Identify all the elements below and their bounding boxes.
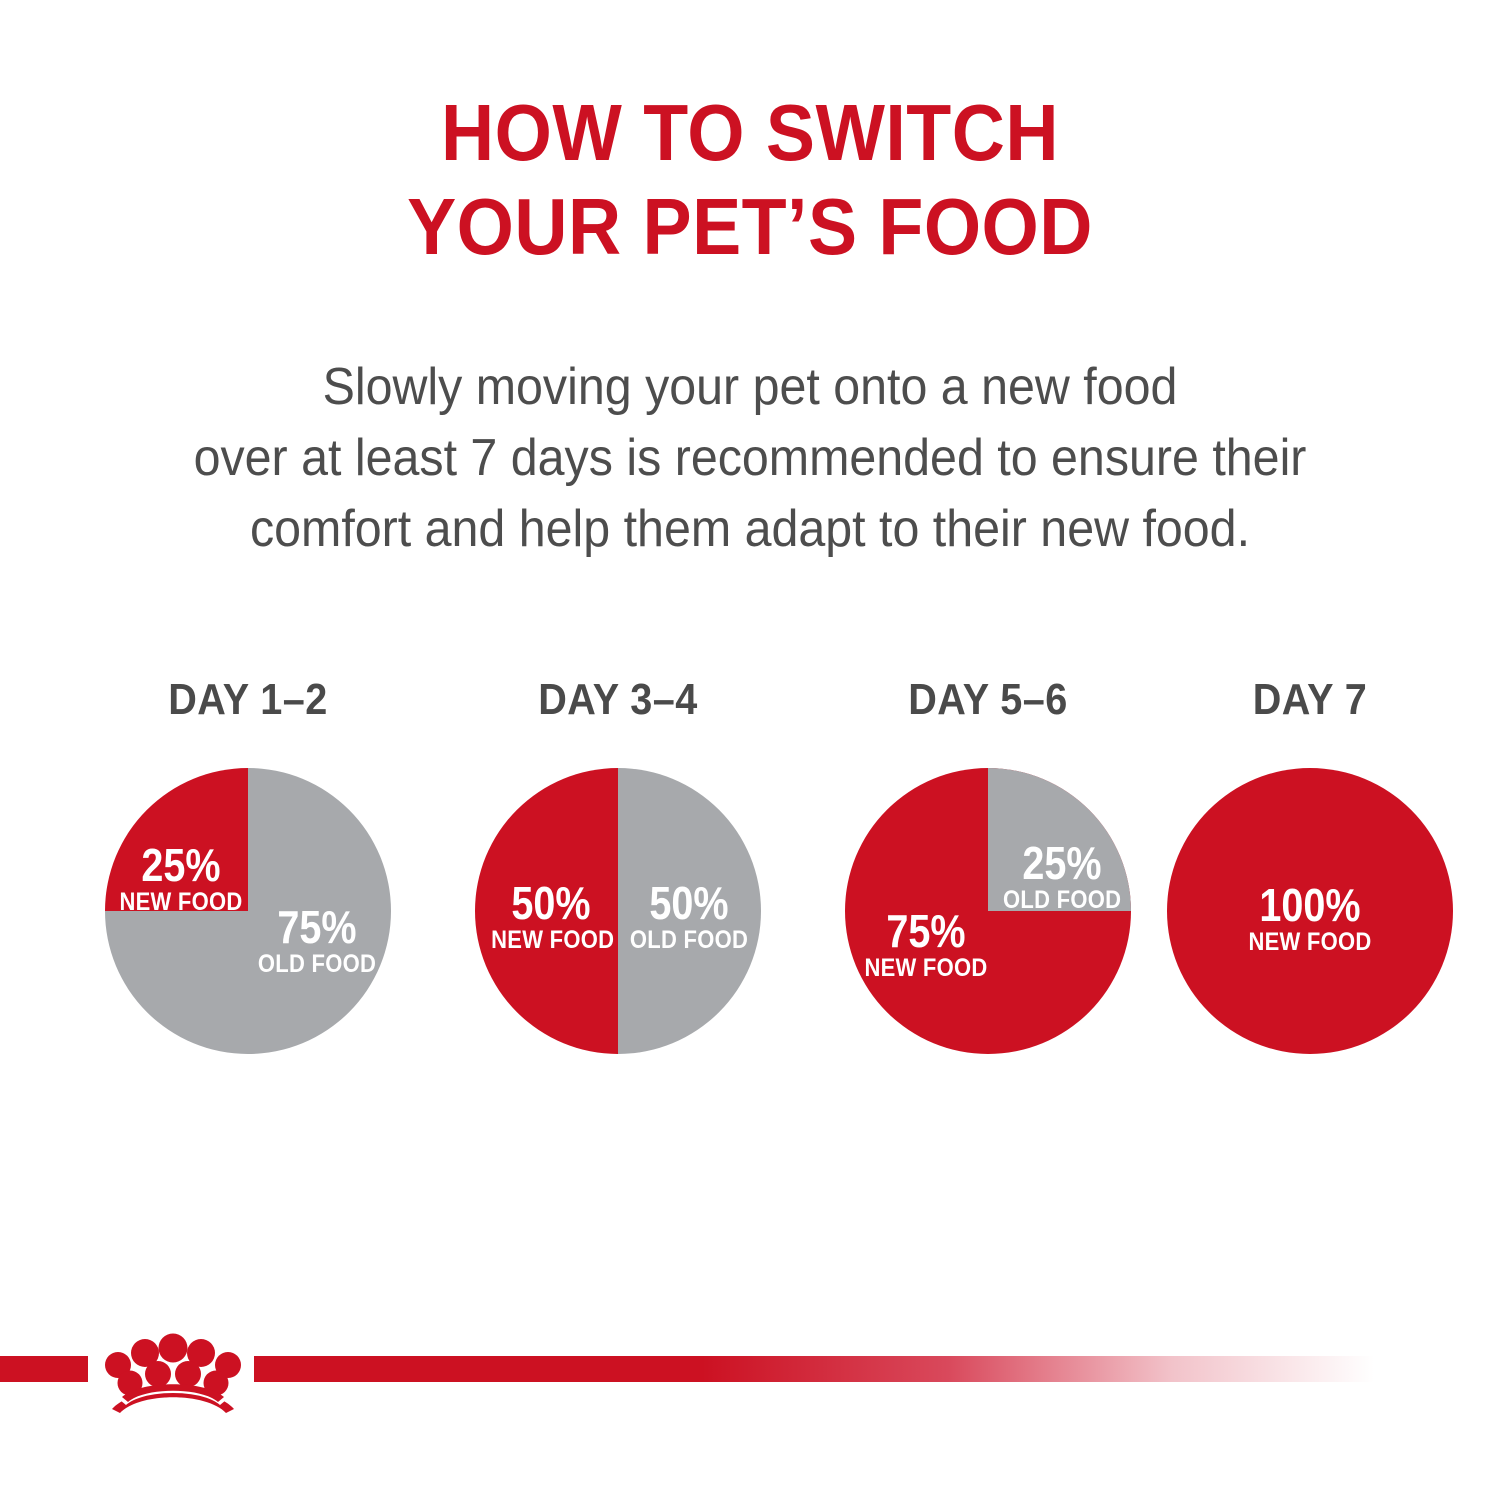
pie-chart-day-5-6: 75% NEW FOOD 25% OLD FOOD: [845, 768, 1131, 1054]
title-line-1: HOW TO SWITCH: [60, 86, 1440, 180]
intro-paragraph: Slowly moving your pet onto a new food o…: [50, 352, 1450, 565]
day-label-4: DAY 7: [1171, 676, 1450, 724]
pie-chart-day-1-2: 25% NEW FOOD 75% OLD FOOD: [105, 768, 391, 1054]
page-title: HOW TO SWITCH YOUR PET’S FOOD: [0, 86, 1500, 274]
slice-new-food: [105, 768, 248, 911]
slice-old-food: [988, 768, 1131, 911]
pie-svg-day-7: [1167, 768, 1453, 1054]
intro-line-2: over at least 7 days is recommended to e…: [99, 423, 1401, 494]
slice-old-food: [618, 768, 761, 1054]
slice-new-food: [1167, 768, 1453, 1054]
pie-chart-day-7: 100% NEW FOOD: [1167, 768, 1453, 1054]
day-label-2: DAY 3–4: [479, 676, 758, 724]
pie-group-day-7: DAY 7 100% NEW FOOD: [1155, 676, 1465, 1076]
day-label-3: DAY 5–6: [849, 676, 1128, 724]
crown-icon-svg: [100, 1322, 246, 1414]
pie-group-day-1-2: DAY 1–2 25% NEW FOOD 75% OLD FOOD: [93, 676, 403, 1076]
intro-line-1: Slowly moving your pet onto a new food: [99, 352, 1401, 423]
pie-group-day-5-6: DAY 5–6 75% NEW FOOD 25% OLD FOOD: [833, 676, 1143, 1076]
royal-canin-crown-icon: [100, 1322, 246, 1414]
title-line-2: YOUR PET’S FOOD: [60, 180, 1440, 274]
footer-bar-right-segment: [254, 1356, 1374, 1382]
day-label-1: DAY 1–2: [109, 676, 388, 724]
pie-chart-day-3-4: 50% NEW FOOD 50% OLD FOOD: [475, 768, 761, 1054]
intro-line-3: comfort and help them adapt to their new…: [99, 494, 1401, 565]
footer-bar-left-segment: [0, 1356, 88, 1382]
pie-chart-row: DAY 1–2 25% NEW FOOD 75% OLD FOOD DAY 3–…: [0, 676, 1500, 1076]
pie-group-day-3-4: DAY 3–4 50% NEW FOOD 50% OLD FOOD: [463, 676, 773, 1076]
slice-new-food: [475, 768, 618, 1054]
pie-svg-day-5-6: [845, 768, 1131, 1054]
pie-svg-day-3-4: [475, 768, 761, 1054]
pie-svg-day-1-2: [105, 768, 391, 1054]
